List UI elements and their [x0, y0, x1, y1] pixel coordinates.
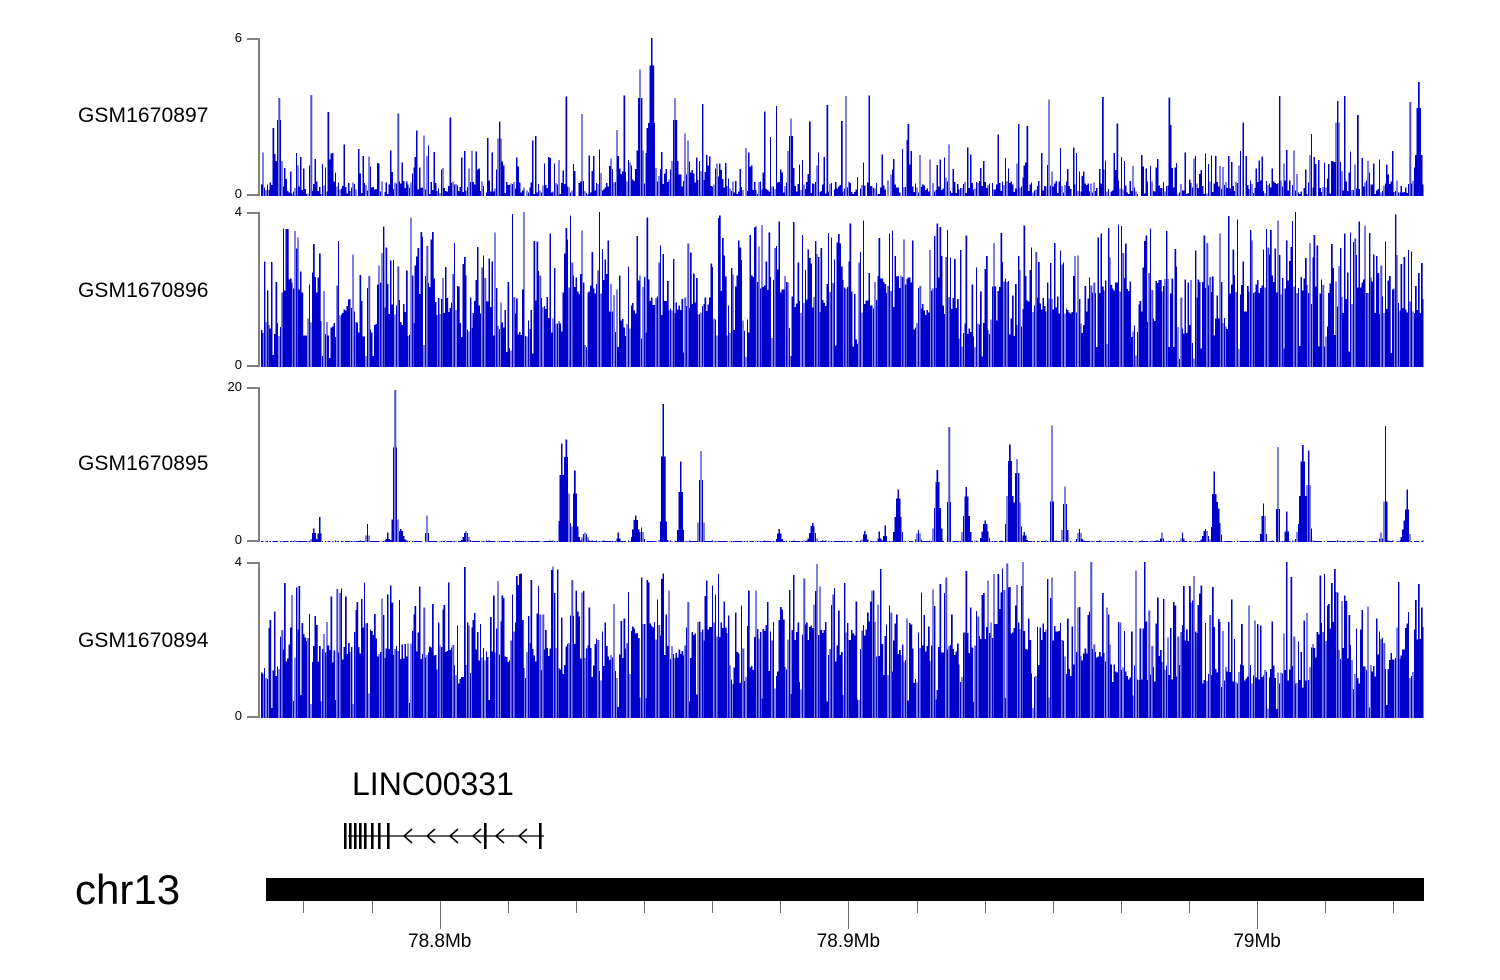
chromosome-label: chr13 [75, 866, 180, 914]
track-label-gsm1670895: GSM1670895 [78, 452, 209, 476]
gene-name-label: LINC00331 [352, 766, 514, 803]
axis-tick-minor [303, 901, 304, 913]
axis-tick-major [1257, 901, 1258, 929]
track-0-axis [258, 38, 260, 196]
track-3-axis [258, 562, 260, 718]
coverage-track-gsm1670894: GSM1670894 4 0 [0, 546, 1500, 721]
axis-tick-minor [508, 901, 509, 913]
track-2-ytick-max: 20 [210, 379, 242, 394]
track-2-axis [258, 387, 260, 542]
track-label-gsm1670894: GSM1670894 [78, 629, 209, 653]
track-1-plot [261, 212, 1424, 367]
genome-browser-view: GSM1670897 6 0 GSM1670896 4 0 GSM1670895… [0, 0, 1500, 980]
track-3-ytick-max: 4 [216, 554, 242, 569]
axis-tick-minor [985, 901, 986, 913]
track-label-gsm1670897: GSM1670897 [78, 104, 209, 128]
coverage-track-gsm1670895: GSM1670895 20 0 [0, 371, 1500, 546]
axis-tick-minor [1325, 901, 1326, 913]
axis-tick-minor [372, 901, 373, 913]
coverage-track-gsm1670897: GSM1670897 6 0 [0, 0, 1500, 196]
axis-tick-minor [1189, 901, 1190, 913]
axis-tick-minor [780, 901, 781, 913]
track-2-plot [261, 387, 1424, 542]
track-1-ytick-max: 4 [216, 204, 242, 219]
axis-tick-label: 78.9Mb [817, 931, 880, 953]
axis-tick-minor [1393, 901, 1394, 913]
track-2-ytick-min: 0 [210, 532, 242, 547]
axis-tick-label: 79Mb [1233, 931, 1281, 953]
gene-model-linc00331[interactable] [344, 818, 564, 854]
track-0-plot [261, 38, 1424, 196]
track-3-ytick-min: 0 [216, 708, 242, 723]
axis-tick-minor [644, 901, 645, 913]
axis-tick-label: 78.8Mb [408, 931, 471, 953]
track-1-ytick-min: 0 [216, 357, 242, 372]
chromosome-ideogram-bar[interactable] [266, 878, 1424, 901]
axis-tick-major [440, 901, 441, 929]
coverage-track-gsm1670896: GSM1670896 4 0 [0, 196, 1500, 371]
axis-tick-minor [917, 901, 918, 913]
track-1-axis [258, 212, 260, 367]
track-3-plot [261, 562, 1424, 718]
track-label-gsm1670896: GSM1670896 [78, 279, 209, 303]
axis-tick-minor [712, 901, 713, 913]
axis-tick-minor [1121, 901, 1122, 913]
axis-tick-minor [1053, 901, 1054, 913]
track-0-ytick-max: 6 [216, 30, 242, 45]
axis-tick-major [848, 901, 849, 929]
axis-tick-minor [576, 901, 577, 913]
